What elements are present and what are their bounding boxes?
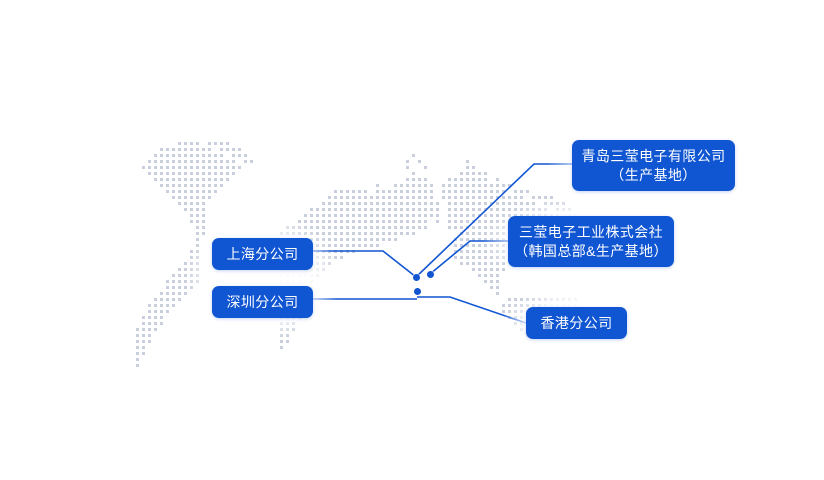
label-qingdao-line1: 青岛三莹电子有限公司	[582, 147, 726, 165]
map-node-qingdao[interactable]	[413, 274, 420, 281]
world-map-infographic: 青岛三莹电子有限公司 （生产基地） 三莹电子工业株式会社 （韩国总部&生产基地）…	[0, 0, 824, 480]
label-shenzhen-text: 深圳分公司	[227, 293, 299, 311]
label-shenzhen[interactable]: 深圳分公司	[212, 286, 313, 318]
label-qingdao[interactable]: 青岛三莹电子有限公司 （生产基地）	[572, 140, 735, 191]
label-hongkong[interactable]: 香港分公司	[526, 307, 627, 339]
label-shanghai[interactable]: 上海分公司	[212, 238, 313, 270]
label-korea-line1: 三莹电子工业株式会社	[519, 223, 663, 241]
label-hongkong-text: 香港分公司	[541, 314, 613, 332]
label-korea-line2: （韩国总部&生产基地）	[514, 242, 668, 260]
label-shanghai-text: 上海分公司	[227, 245, 299, 263]
label-qingdao-line2: （生产基地）	[610, 166, 696, 184]
dotted-world-map	[0, 0, 824, 480]
map-node-korea[interactable]	[427, 271, 434, 278]
map-node-hongkong[interactable]	[414, 288, 421, 295]
label-korea-hq[interactable]: 三莹电子工业株式会社 （韩国总部&生产基地）	[508, 216, 674, 267]
